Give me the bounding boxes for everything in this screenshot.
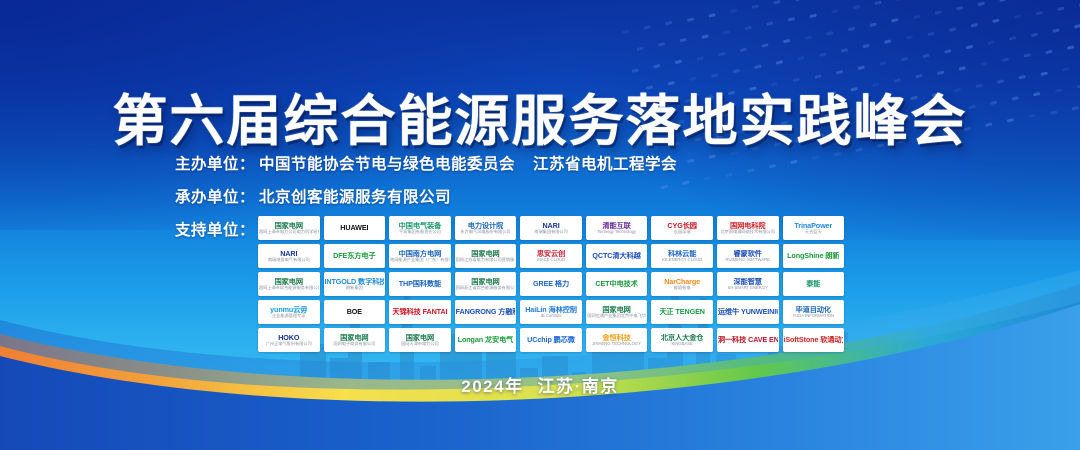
sponsor-logo-name: 洞一科技 CAVE ENERGY [718,336,778,344]
decorative-dot [687,17,695,22]
decorative-dot [1014,15,1022,20]
decorative-dot [730,9,738,14]
decorative-dot [959,66,967,71]
sponsor-logo-cell[interactable]: 国家电网国网浙江省综合能源服务有限公司 [455,272,517,296]
sponsor-logo-subtitle: Tsintergy Technology [597,230,636,234]
sponsor-logo-cell[interactable]: 运维牛 YUNWEINIU [717,300,779,324]
decorative-dot [732,69,740,74]
decorative-dot [1062,67,1070,72]
sponsor-logo-subtitle: 朗新集团 [324,286,384,290]
sponsor-logo-subtitle: 长园深瑞 [667,230,696,234]
decorative-dot [891,18,899,23]
sponsor-logo-cell[interactable]: HOKO广州正电气股份有限公司 [258,328,320,352]
sponsor-logo-name: NARI南瑞集团有限公司 [534,222,568,234]
decorative-dot [675,60,683,65]
decorative-dot [660,185,668,190]
organizer-line: 承办单位：北京创客能源服务有限公司 [175,185,451,207]
decorative-dot [718,52,726,57]
sponsor-logo-subtitle: 平高集团有限责任公司 [399,230,442,234]
decorative-dot [795,0,803,1]
sponsor-logo-cell[interactable]: INTGOLD 数字科技朗新集团 [324,272,386,296]
host-value-2: 江苏省电机工程学会 [533,156,677,173]
organizer-label: 承办单位： [175,189,255,206]
sponsor-logo-name: 中国南方电网南网能源产业集团（广东）有限公司 [390,250,450,262]
decorative-dot [869,23,877,28]
decorative-dot [956,6,964,11]
decorative-dot [1002,58,1010,63]
host-label: 主办单位： [175,156,255,173]
sponsor-logo-cell[interactable]: HaiLin 海林控制IB Controls [520,300,582,324]
decorative-dot [631,68,639,73]
sponsor-logo-name: NarCharge能链智电 [664,278,700,290]
sponsor-logo-cell[interactable]: TrinaPower天合蓝天 [783,216,845,240]
sponsor-logo-cell[interactable]: QCTC清大科越 [586,244,648,268]
decorative-dot [1035,10,1043,15]
decorative-dot [1031,32,1039,37]
sponsor-logo-cell[interactable]: NARI南瑞继保电气有限公司 [258,244,320,268]
sponsor-logo-cell[interactable]: 中国南方电网南网能源产业集团（广东）有限公司 [389,244,451,268]
sponsor-logo-subtitle: SIACE CLOUD [537,258,565,262]
sponsor-logo-cell[interactable]: 天正 TENGEN [651,300,713,324]
sponsor-logo-cell[interactable]: Longan 龙安电气 [455,328,517,352]
decorative-dot [978,2,986,7]
decorative-dot [937,70,945,75]
decorative-dot [773,0,781,5]
logo-row: 国家电网国网上海市综合能源服务有限公司INTGOLD 数字科技朗新集团THP国科… [258,272,844,296]
sponsor-logo-subtitle: 国网天津市电力公司 [401,342,439,346]
sponsor-logo-name: iSoftStone 软通动力 [783,336,843,344]
decorative-dot [740,48,748,53]
logo-row: NARI南瑞继保电气有限公司DFE东方电子中国南方电网南网能源产业集团（广东）有… [258,244,844,268]
sponsor-logo-name: 国家电网国网信通产业集团北京中电飞华 [587,306,646,318]
sponsor-logo-subtitle: KE ENERGY CLOUD [662,258,702,262]
decorative-dot [831,9,839,14]
decorative-dot [944,49,952,54]
decorative-dot [966,45,974,50]
sponsor-logo-cell[interactable]: 国家电网国网江苏省电力有限公司营销服务中心 [455,244,517,268]
decorative-dot [874,1,882,6]
sponsor-logo-subtitle: RUIMENG SOFTWARE [725,258,770,262]
decorative-dot [747,168,755,173]
decorative-dot [1009,36,1017,41]
decorative-dot [1023,53,1031,58]
sponsor-logo-subtitle: 国网信通产业集团北京中电飞华 [587,314,646,318]
organizer-value: 北京创客能源服务有限公司 [259,189,451,206]
sponsor-logo-cell[interactable]: 思安云创SIACE CLOUD [520,244,582,268]
sponsor-logo-name: CYG长园长园深瑞 [667,222,696,234]
decorative-dot [653,64,661,69]
sponsor-logo-cell[interactable]: 国家电网国网上海市电力公司电力科学研究院 [258,216,320,240]
decorative-dot [701,34,709,39]
decorative-dot [708,13,716,18]
sponsor-logo-name: DFE东方电子 [333,252,375,260]
sponsor-logo-name: UCchip 鹏芯微 [527,336,575,344]
decorative-dot [922,53,930,58]
decorative-dot [1074,24,1080,29]
sponsor-logo-name: 国家电网国网江苏省电力有限公司营销服务中心 [456,250,516,262]
decorative-dot [949,27,957,32]
page-title: 第六届综合能源服务落地实践峰会 [0,76,1080,156]
sponsor-logo-name: 中国电气装备平高集团有限责任公司 [399,222,442,234]
sponsor-logo-name: HOKO广州正电气股份有限公司 [266,334,312,346]
sponsor-logo-cell[interactable]: HUAWEI [324,216,386,240]
sponsor-logo-subtitle: 企业能源管理专家 [270,314,307,318]
sponsor-logo-name: THP国科数能 [399,280,441,288]
decorative-dot [769,164,777,169]
sponsor-logo-subtitle: 南瑞集团有限公司 [534,230,568,234]
decorative-dot [826,31,834,36]
decorative-dot [896,0,904,1]
sponsor-logo-cell[interactable]: GREE 格力 [520,272,582,296]
decorative-dot [754,64,762,69]
sponsor-logo-subtitle: 国网电子商务有限公司 [333,342,375,346]
decorative-dot [906,35,914,40]
sponsor-logo-name: 毕道自动化YUDA INFORMATION [792,306,834,318]
sponsor-logo-subtitle: 国网上海市综合能源服务有限公司 [259,286,319,290]
support-label: 支持单位： [175,222,255,239]
sponsor-logo-name: 思安云创SIACE CLOUD [537,250,565,262]
sponsor-logo-name: CET中电技术 [595,280,637,288]
decorative-dot [809,13,817,18]
sponsor-logo-cell[interactable]: 国家电网国网天津市电力公司 [389,328,451,352]
decorative-dot [696,56,704,61]
sponsor-logo-grid: 国家电网国网上海市电力公司电力科学研究院HUAWEI中国电气装备平高集团有限责任… [258,216,844,352]
decorative-dot [658,42,666,47]
decorative-dot [999,0,1007,2]
sponsor-logo-cell[interactable]: 国网电科院北京国电通网络技术有限公司 [717,216,779,240]
sponsor-logo-cell[interactable]: BOE [324,300,386,324]
decorative-dot [725,172,733,177]
footer-year: 2024年 [461,377,523,396]
sponsor-logo-name: FANGRONG 方融科技 [456,308,516,316]
sponsor-logo-name: 金恒科技JINHENG TECHNOLOGY [592,334,641,346]
sponsor-logo-name: 国网电科院北京国电通网络技术有限公司 [720,222,774,234]
sponsor-logo-cell[interactable]: 清能互联Tsintergy Technology [586,216,648,240]
sponsor-logo-name: INTGOLD 数字科技朗新集团 [324,278,384,290]
sponsor-logo-name: 国家电网国网浙江省综合能源服务有限公司 [456,278,516,290]
support-line: 支持单位： [175,218,259,240]
decorative-dot [761,43,769,48]
decorative-dot [704,176,712,181]
decorative-dot [766,22,774,27]
sponsor-logo-name: 清能互联Tsintergy Technology [597,222,636,234]
sponsor-logo-subtitle: 天合蓝天 [794,230,832,234]
decorative-dot [744,26,752,31]
footer-date-location: 2024年江苏·南京 [0,372,1080,397]
sponsor-logo-name: 电力设计院东方电气风电股份有限公司 [460,222,510,234]
decorative-dot [848,27,856,32]
decorative-dot [970,23,978,28]
decorative-dot [1067,45,1075,50]
sponsor-logo-cell[interactable]: 电力设计院东方电气风电股份有限公司 [455,216,517,240]
sponsor-logo-subtitle: 国网上海市电力公司电力科学研究院 [259,230,319,234]
decorative-dot [841,48,849,53]
sponsor-logo-cell[interactable]: 国家电网国网电子商务有限公司 [324,328,386,352]
sponsor-logo-name: QCTC清大科越 [592,252,640,260]
decorative-dot [1052,28,1060,33]
sponsor-logo-subtitle: 南瑞继保电气有限公司 [268,258,310,262]
decorative-dot [804,35,812,40]
sponsor-logo-name: 泰能 [806,280,820,288]
sponsor-logo-name: HaiLin 海林控制IB Controls [525,306,577,318]
logo-row: 国家电网国网上海市电力公司电力科学研究院HUAWEI中国电气装备平高集团有限责任… [258,216,844,240]
decorative-dot [913,14,921,19]
sponsor-logo-cell[interactable]: 国家电网国网信通产业集团北京中电飞华 [586,300,648,324]
sponsor-logo-cell[interactable]: UCchip 鹏芯微 [520,328,582,352]
sponsor-logo-cell[interactable]: NarCharge能链智电 [651,272,713,296]
sponsor-logo-cell[interactable]: 天锦科技 FANTAI [389,300,451,324]
decorative-dot [934,10,942,15]
sponsor-logo-cell[interactable]: NARI南瑞集团有限公司 [520,216,582,240]
decorative-dot [987,41,995,46]
sponsor-logo-subtitle: IB Controls [525,314,577,318]
decorative-dot [1040,71,1048,76]
sponsor-logo-cell[interactable]: iSoftStone 软通动力 [783,328,845,352]
decorative-dot [812,156,820,161]
host-line: 主办单位：中国节能协会节电与绿色电能委员会江苏省电机工程学会 [175,152,677,174]
decorative-dot [636,46,644,51]
sponsor-logo-subtitle: 国网江苏省电力有限公司营销服务中心 [456,258,516,262]
sponsor-logo-name: 深能智慧SH SMART ENERGY [728,278,768,290]
decorative-dot [643,25,651,30]
decorative-dot [622,29,630,34]
decorative-dot [901,57,909,62]
sponsor-logo-cell[interactable]: 国家电网国网上海市综合能源服务有限公司 [258,272,320,296]
sponsor-logo-name: LongShine 朗新 [787,252,839,260]
sponsor-logo-name: 国家电网国网上海市电力公司电力科学研究院 [259,222,319,234]
decorative-dot [836,70,844,75]
decorative-dot [927,31,935,36]
decorative-dot [752,5,760,10]
sponsor-logo-name: yunmu云毋企业能源管理专家 [270,306,307,318]
decorative-dot [879,61,887,66]
sponsor-logo-subtitle: 能链智电 [664,286,700,290]
decorative-dot [687,159,695,164]
sponsor-logo-name: 运维牛 YUNWEINIU [718,308,778,316]
sponsor-logo-name: 科林云能KE ENERGY CLOUD [662,250,702,262]
sponsor-logo-cell[interactable]: THP国科数能 [389,272,451,296]
logo-row: yunmu云毋企业能源管理专家BOE天锦科技 FANTAIFANGRONG 方融… [258,300,844,324]
decorative-dot [723,30,731,35]
decorative-dot [857,66,865,71]
decorative-dot [783,39,791,44]
sponsor-logo-name: 天锦科技 FANTAI [392,308,447,316]
sponsor-logo-cell[interactable]: 科林云能KE ENERGY CLOUD [651,244,713,268]
conference-banner: 第六届综合能源服务落地实践峰会 主办单位：中国节能协会节电与绿色电能委员会江苏省… [0,0,1080,450]
sponsor-logo-subtitle: 东方电气风电股份有限公司 [460,230,510,234]
decorative-dot [665,21,673,26]
decorative-dot [680,38,688,43]
sponsor-logo-cell[interactable]: 金恒科技JINHENG TECHNOLOGY [586,328,648,352]
decorative-dot [1057,6,1065,11]
decorative-dot [797,56,805,61]
host-value-1: 中国节能协会节电与绿色电能委员会 [259,156,515,173]
sponsor-logo-subtitle: YUDA INFORMATION [792,314,834,318]
sponsor-logo-subtitle: 北京国电通网络技术有限公司 [720,230,774,234]
decorative-dot [853,5,861,10]
sponsor-logo-subtitle: 南网能源产业集团（广东）有限公司 [390,258,450,262]
sponsor-logo-name: 天正 TENGEN [659,308,704,316]
sponsor-logo-cell[interactable]: LongShine 朗新 [783,244,845,268]
decorative-dot [980,62,988,67]
decorative-dot [788,17,796,22]
sponsor-logo-cell[interactable]: 深能智慧SH SMART ENERGY [717,272,779,296]
decorative-dot [862,44,870,49]
decorative-dot [790,160,798,165]
decorative-dot [776,60,784,65]
decorative-dot [682,181,690,186]
sponsor-logo-cell[interactable]: DFE东方电子 [324,244,386,268]
sponsor-logo-name: HUAWEI [340,224,368,232]
decorative-dot [992,19,1000,24]
sponsor-logo-cell[interactable]: 泰能 [783,272,845,296]
sponsor-logo-cell[interactable]: 中国电气装备平高集团有限责任公司 [389,216,451,240]
sponsor-logo-cell[interactable]: CET中电技术 [586,272,648,296]
sponsor-logo-cell[interactable]: FANGRONG 方融科技 [455,300,517,324]
sponsor-logo-cell[interactable]: 睿蒙软件RUIMENG SOFTWARE [717,244,779,268]
sponsor-logo-name: 国家电网国网上海市综合能源服务有限公司 [259,278,319,290]
sponsor-logo-subtitle: 广州正电气股份有限公司 [266,342,312,346]
sponsor-logo-name: 国家电网国网电子商务有限公司 [333,334,375,346]
sponsor-logo-cell[interactable]: 毕道自动化YUDA INFORMATION [783,300,845,324]
decorative-dot [1045,49,1053,54]
sponsor-logo-name: NARI南瑞继保电气有限公司 [268,250,310,262]
sponsor-logo-cell[interactable]: CYG长园长园深瑞 [651,216,713,240]
sponsor-logo-subtitle: 国网浙江省综合能源服务有限公司 [456,286,516,290]
sponsor-logo-cell[interactable]: yunmu云毋企业能源管理专家 [258,300,320,324]
sponsor-logo-name: TrinaPower天合蓝天 [794,222,832,234]
sponsor-logo-name: BOE [347,308,362,316]
footer-location: 江苏·南京 [538,377,619,396]
sponsor-logo-name: GREE 格力 [533,280,569,288]
sponsor-logo-name: 睿蒙软件RUIMENG SOFTWARE [725,250,770,262]
sponsor-logo-subtitle: SH SMART ENERGY [728,286,768,290]
sponsor-logo-cell[interactable]: 洞一科技 CAVE ENERGY [717,328,779,352]
decorative-dot [884,40,892,45]
sponsor-logo-subtitle: KINGBASE [661,342,704,346]
sponsor-logo-name: 北京人大金仓KINGBASE [661,334,704,346]
sponsor-logo-subtitle: JINHENG TECHNOLOGY [592,342,641,346]
decorative-dot [819,52,827,57]
logo-row: HOKO广州正电气股份有限公司国家电网国网电子商务有限公司国家电网国网天津市电力… [258,328,844,352]
sponsor-logo-name: Longan 龙安电气 [458,336,514,344]
sponsor-logo-name: 国家电网国网天津市电力公司 [401,334,439,346]
sponsor-logo-cell[interactable]: 北京人大金仓KINGBASE [651,328,713,352]
